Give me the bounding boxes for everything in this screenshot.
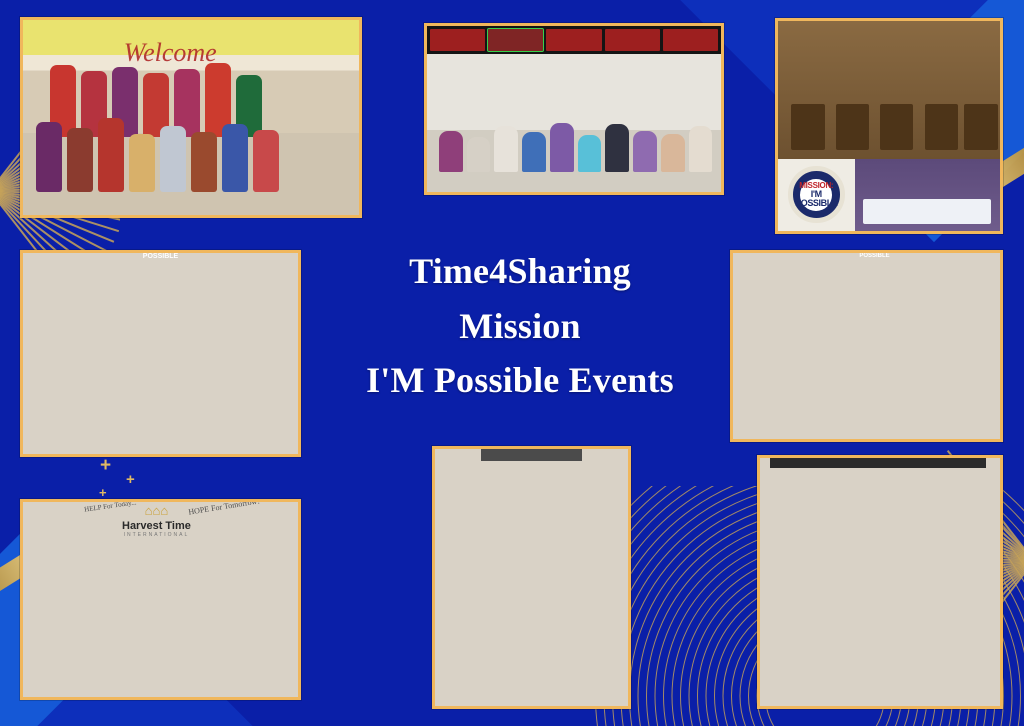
photo-frame-sports-field[interactable]: MISSION: I'M POSSIBLE Large group of sch… xyxy=(730,250,1003,442)
photo-frame-india-doorway[interactable]: MISSION: I'M POSSIBLE Six volunteers out… xyxy=(20,250,301,457)
photo-image-video-call xyxy=(427,26,721,192)
classroom-tile xyxy=(778,21,1000,159)
medallion-inner: MISSION: I'M POSSIBLE xyxy=(800,179,832,211)
photo-frame-harvest-time[interactable]: ⌂⌂⌂ Harvest Time INTERNATIONAL HELP For … xyxy=(20,499,301,700)
mission-medallion-icon: MISSION: I'M POSSIBLE xyxy=(788,166,845,223)
photo-image-toy-donation: Welcome xyxy=(23,20,359,215)
page-title: Time4Sharing Mission I'M Possible Events xyxy=(330,244,710,408)
photo-image-africa-collage: MISSION: I'M POSSIBLE xyxy=(778,21,1000,231)
photo-frame-mascot-classroom[interactable]: Squirrel mascot in front of a whiteboard… xyxy=(757,455,1003,709)
title-line-1: Time4Sharing xyxy=(330,244,710,299)
harvest-time-name: Harvest Time xyxy=(122,520,191,532)
harvest-mark-icon: ⌂⌂⌂ xyxy=(145,503,169,518)
photo-frame-mascot-lobby[interactable]: A woman, a squirrel mascot with a candy … xyxy=(432,446,631,709)
audience-row xyxy=(439,92,712,172)
video-call-thumbnail-strip xyxy=(427,26,721,54)
photo-frame-africa-classroom-collage[interactable]: MISSION: I'M POSSIBLE Collage: classroom… xyxy=(775,18,1003,234)
photo-frame-toy-donation[interactable]: Welcome Group of volunteers and children… xyxy=(20,17,362,218)
title-line-2: Mission xyxy=(330,299,710,354)
wall-panel xyxy=(481,449,581,461)
volunteer-row-front xyxy=(36,118,279,192)
hope-tomorrow-text: HOPE For Tomorrow! xyxy=(188,499,261,517)
plus-mark-icon-2: + xyxy=(126,472,135,487)
plus-mark-icon-1: + xyxy=(100,456,111,475)
mission-banner xyxy=(863,199,991,224)
plus-mark-icon-3: + xyxy=(99,486,107,499)
group-banner-tile xyxy=(855,159,1000,231)
poster-canvas: + + + Welcome Group of volunteers and ch… xyxy=(0,0,1024,726)
whiteboard xyxy=(770,458,986,468)
title-line-3: I'M Possible Events xyxy=(330,353,710,408)
medallion-tile: MISSION: I'M POSSIBLE xyxy=(778,159,855,231)
basketball-icon xyxy=(778,250,813,253)
medallion-line-3: POSSIBLE xyxy=(795,199,837,208)
harvest-time-sub: INTERNATIONAL xyxy=(122,532,191,538)
harvest-time-logo: ⌂⌂⌂ Harvest Time INTERNATIONAL xyxy=(122,502,191,538)
photo-frame-video-call[interactable]: Video call screenshot of a woman with a … xyxy=(424,23,724,195)
